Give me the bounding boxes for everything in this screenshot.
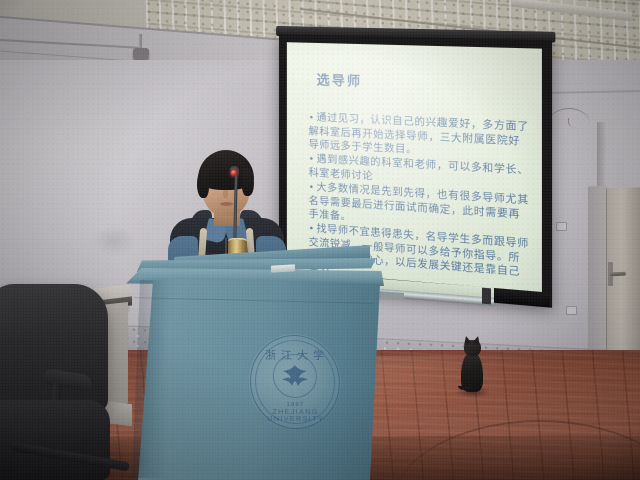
black-cat [455, 336, 487, 394]
slide-title: 选导师 [317, 69, 363, 90]
lecture-room-photo: 选导师 通过见习，认识自己的兴趣爱好，多方面了解科室后再开始选择导师，三大附属医… [0, 0, 640, 480]
wall-outlet[interactable] [556, 222, 567, 231]
cat-ear-right [472, 335, 482, 345]
podium-nameplate [271, 264, 295, 272]
hair-side-right [242, 168, 254, 196]
emblem-founding-year: 1897 [249, 402, 341, 408]
wall-mark [92, 226, 136, 256]
shelf-end-cap [482, 288, 491, 305]
phoenix-icon [280, 363, 310, 389]
door-reveal [588, 186, 608, 357]
emblem-english-name: ZHEJIANG UNIVERSITY [247, 409, 344, 423]
hair-side-left [197, 168, 209, 198]
door-handle[interactable] [610, 272, 626, 277]
wall-outlet[interactable] [566, 306, 577, 315]
nose [223, 189, 228, 198]
hanging-cable-end [568, 118, 582, 128]
office-chair-seat[interactable] [0, 400, 110, 480]
conduit-bracket [133, 48, 149, 60]
zhejiang-university-emblem: 浙江大学 1897 ZHEJIANG UNIVERSITY [248, 334, 342, 430]
mouth [220, 202, 233, 206]
